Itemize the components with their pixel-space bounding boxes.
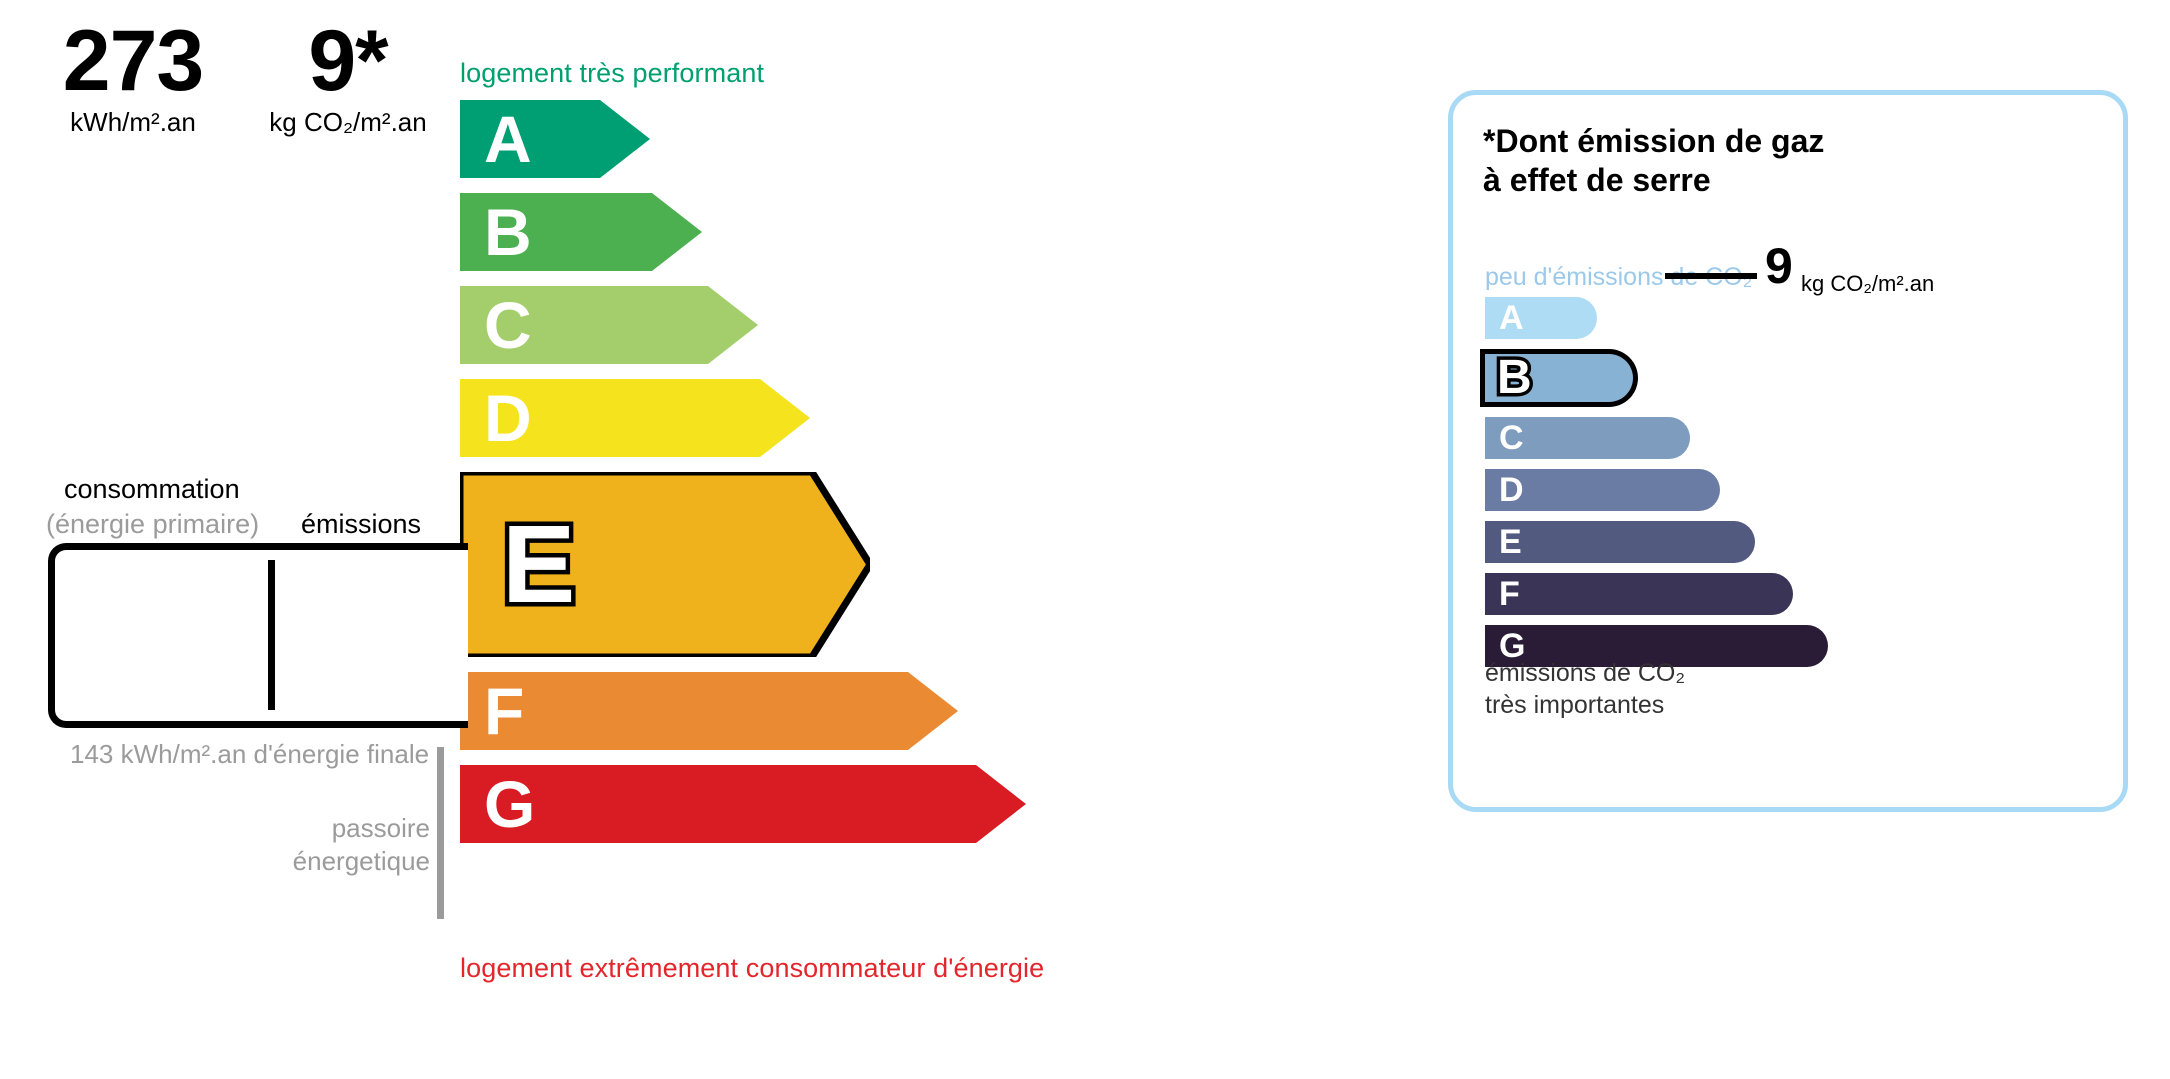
co2-bar-letter-f: F <box>1499 577 1520 611</box>
energy-band-g: G <box>460 765 1026 843</box>
final-energy-note: 143 kWh/m².an d'énergie finale <box>70 738 429 771</box>
emissions-value: 9* <box>258 18 438 106</box>
energy-band-d: D <box>460 379 810 457</box>
energy-band-letter-d: D <box>484 385 532 451</box>
co2-bottom-caption: émissions de CO₂ très importantes <box>1485 657 1685 721</box>
value-box-divider <box>268 560 275 710</box>
energy-band-e: E <box>460 472 870 657</box>
co2-bar-c: C <box>1485 417 1690 459</box>
co2-value: 9 <box>1765 241 1793 291</box>
energy-band-b: B <box>460 193 702 271</box>
energy-band-letter-g: G <box>484 771 535 837</box>
emissions-value-block: 9* kg CO₂/m².an <box>258 18 438 138</box>
co2-emissions-panel: *Dont émission de gaz à effet de serre p… <box>1448 90 2128 812</box>
co2-bar-d: D <box>1485 469 1720 511</box>
consumption-header: consommation <box>64 474 240 505</box>
co2-bar-e: E <box>1485 521 1755 563</box>
co2-bar-letter-a: A <box>1499 301 1524 335</box>
energy-top-caption: logement très performant <box>460 58 764 89</box>
energy-band-letter-b: B <box>484 199 532 265</box>
energy-band-letter-a: A <box>484 106 532 172</box>
consumption-value-block: 273 kWh/m².an <box>20 18 246 138</box>
co2-bar-f: F <box>1485 573 1793 615</box>
co2-leader-line <box>1665 273 1757 279</box>
co2-unit: kg CO₂/m².an <box>1801 271 1934 297</box>
consumption-value: 273 <box>20 18 246 106</box>
energy-band-c: C <box>460 286 758 364</box>
co2-bar-letter-c: C <box>1499 421 1524 455</box>
consumption-unit: kWh/m².an <box>20 108 246 138</box>
co2-bar-a: A <box>1485 297 1597 339</box>
energy-band-letter-e: E <box>502 510 575 620</box>
co2-bar-letter-d: D <box>1499 473 1524 507</box>
co2-bar-b: B <box>1485 349 1638 407</box>
emissions-unit: kg CO₂/m².an <box>258 108 438 138</box>
energy-band-letter-f: F <box>484 678 524 744</box>
passoire-vertical-rule <box>437 747 444 919</box>
energy-bottom-caption: logement extrêmement consommateur d'éner… <box>460 953 1044 984</box>
co2-panel-title: *Dont émission de gaz à effet de serre <box>1483 122 1824 200</box>
co2-bar-letter-b: B <box>1497 354 1532 402</box>
energy-value-box <box>48 543 468 728</box>
energy-performance-label: logement très performant ABCDEFG consomm… <box>0 0 1320 1079</box>
passoire-energetique-note: passoire énergetique <box>285 812 430 879</box>
energy-band-a: A <box>460 100 650 178</box>
energy-band-letter-c: C <box>484 292 532 358</box>
emissions-header: émissions <box>301 509 421 540</box>
energy-band-f: F <box>460 672 958 750</box>
consumption-subheader: (énergie primaire) <box>46 509 259 540</box>
co2-bar-letter-e: E <box>1499 525 1522 559</box>
